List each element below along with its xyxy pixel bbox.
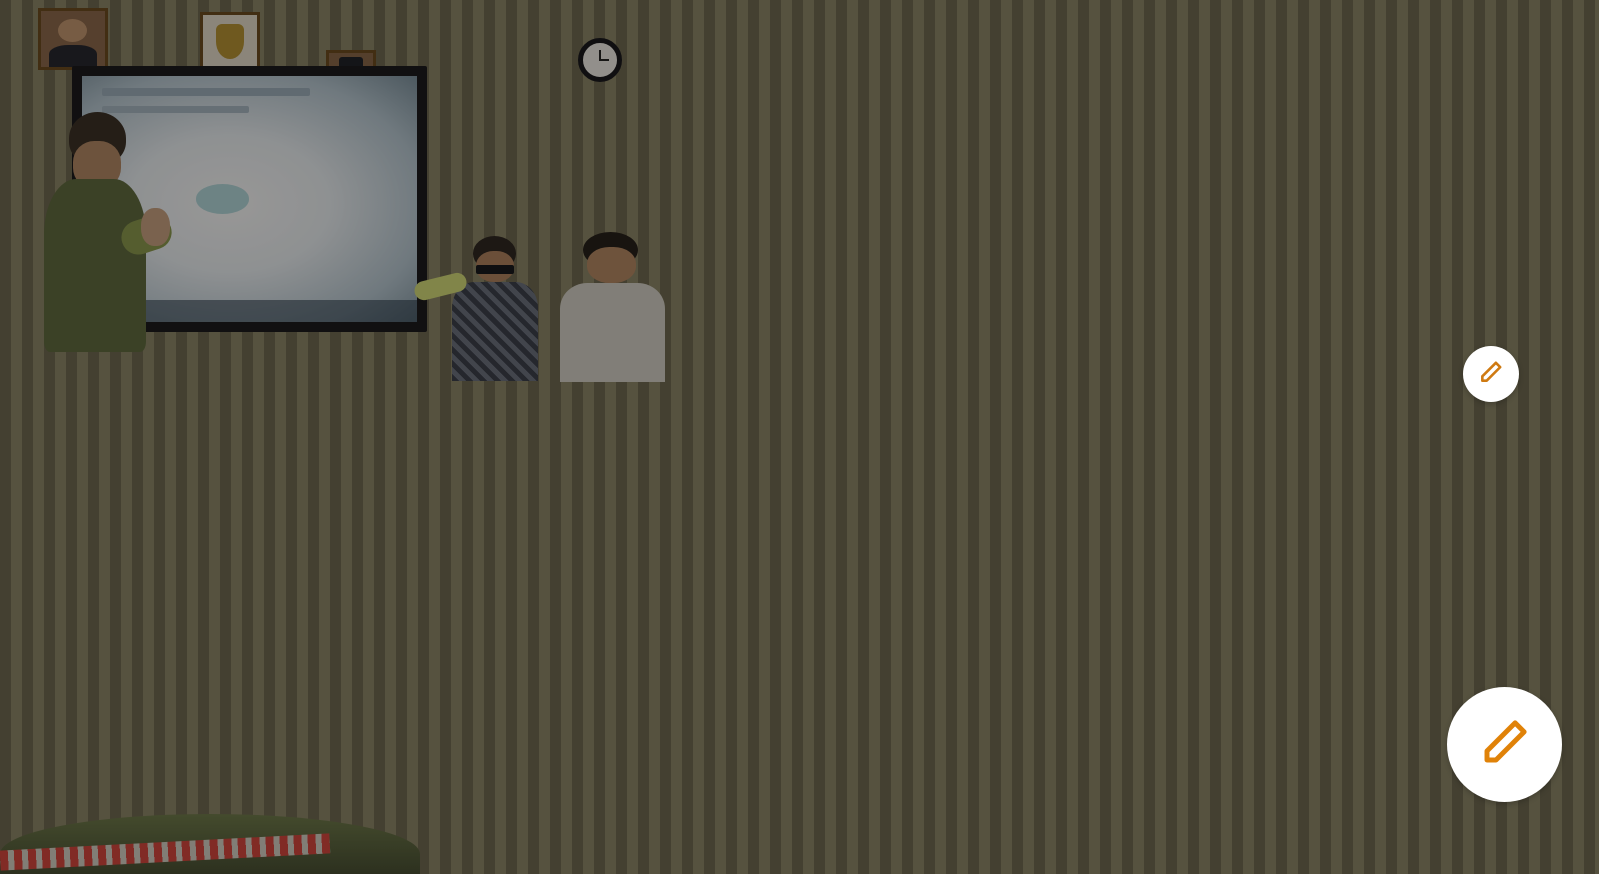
presentation-photo[interactable] — [0, 0, 672, 381]
edit-fab-small[interactable] — [1463, 346, 1519, 402]
edit-fab-large[interactable] — [1447, 687, 1562, 802]
photo-shadow-overlay — [0, 0, 672, 381]
pencil-icon — [1478, 359, 1504, 390]
pencil-icon — [1478, 715, 1532, 774]
